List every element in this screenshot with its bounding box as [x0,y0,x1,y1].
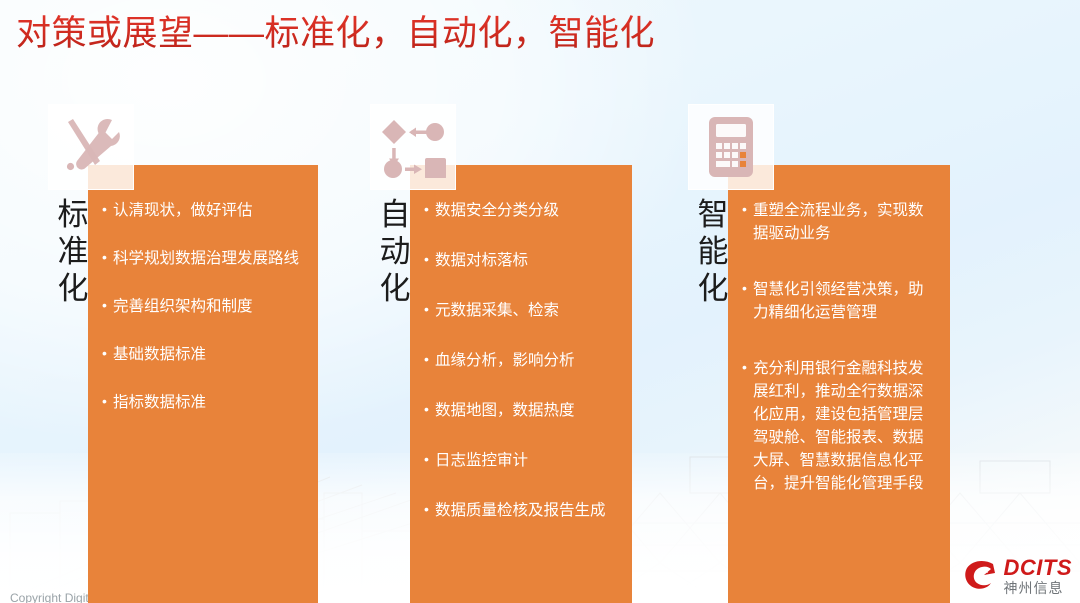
list-item: 血缘分析，影响分析 [424,349,618,372]
vertical-label-char: 能 [691,233,735,270]
vertical-label-char: 标 [51,196,95,233]
icon-box-automation [370,104,456,190]
bullet-panel-automation: 数据安全分类分级 数据对标落标 元数据采集、检索 血缘分析，影响分析 数据地图，… [410,165,632,603]
vertical-label-char: 化 [373,270,417,307]
list-item: 科学规划数据治理发展路线 [102,247,304,270]
vertical-label-standardization: 标 准 化 [51,196,95,307]
bullet-list: 数据安全分类分级 数据对标落标 元数据采集、检索 血缘分析，影响分析 数据地图，… [424,199,618,522]
bullet-list: 重塑全流程业务，实现数据驱动业务 智慧化引领经营决策，助力精细化运营管理 充分利… [742,199,936,495]
list-item: 日志监控审计 [424,449,618,472]
vertical-label-intelligence: 智 能 化 [691,196,735,307]
vertical-label-char: 智 [691,196,735,233]
bullet-list: 认清现状，做好评估 科学规划数据治理发展路线 完善组织架构和制度 基础数据标准 … [102,199,304,414]
list-item: 指标数据标准 [102,391,304,414]
calculator-icon [705,115,757,179]
list-item: 完善组织架构和制度 [102,295,304,318]
list-item: 智慧化引领经营决策，助力精细化运营管理 [742,278,936,324]
list-item: 数据质量检核及报告生成 [424,499,618,522]
slide-canvas: 对策或展望——标准化，自动化，智能化 认清现状，做好评估 科学规划数据治理发展路… [0,0,1080,603]
page-title: 对策或展望——标准化，自动化，智能化 [16,12,655,56]
list-item: 基础数据标准 [102,343,304,366]
vertical-label-char: 准 [51,233,95,270]
bullet-panel-intelligence: 重塑全流程业务，实现数据驱动业务 智慧化引领经营决策，助力精细化运营管理 充分利… [728,165,950,603]
list-item: 元数据采集、检索 [424,299,618,322]
bullet-panel-standardization: 认清现状，做好评估 科学规划数据治理发展路线 完善组织架构和制度 基础数据标准 … [88,165,318,603]
list-item: 充分利用银行金融科技发展红利，推动全行数据深化应用，建设包括管理层驾驶舱、智能报… [742,357,936,495]
vertical-label-char: 化 [51,270,95,307]
tools-icon [60,116,122,178]
vertical-label-char: 自 [373,196,417,233]
dcits-logo-cn: 神州信息 [1004,581,1073,595]
dcits-logo: DCITS 神州信息 [963,557,1073,595]
list-item: 数据安全分类分级 [424,199,618,222]
icon-box-intelligence [688,104,774,190]
dcits-swirl-icon [963,559,999,593]
icon-box-standardization [48,104,134,190]
dcits-logo-en: DCITS [1004,557,1073,579]
list-item: 认清现状，做好评估 [102,199,304,222]
workflow-icon [380,116,446,178]
list-item: 数据地图，数据热度 [424,399,618,422]
list-item: 重塑全流程业务，实现数据驱动业务 [742,199,936,245]
dcits-logo-text: DCITS 神州信息 [1004,557,1073,595]
list-item: 数据对标落标 [424,249,618,272]
vertical-label-automation: 自 动 化 [373,196,417,307]
vertical-label-char: 动 [373,233,417,270]
vertical-label-char: 化 [691,270,735,307]
